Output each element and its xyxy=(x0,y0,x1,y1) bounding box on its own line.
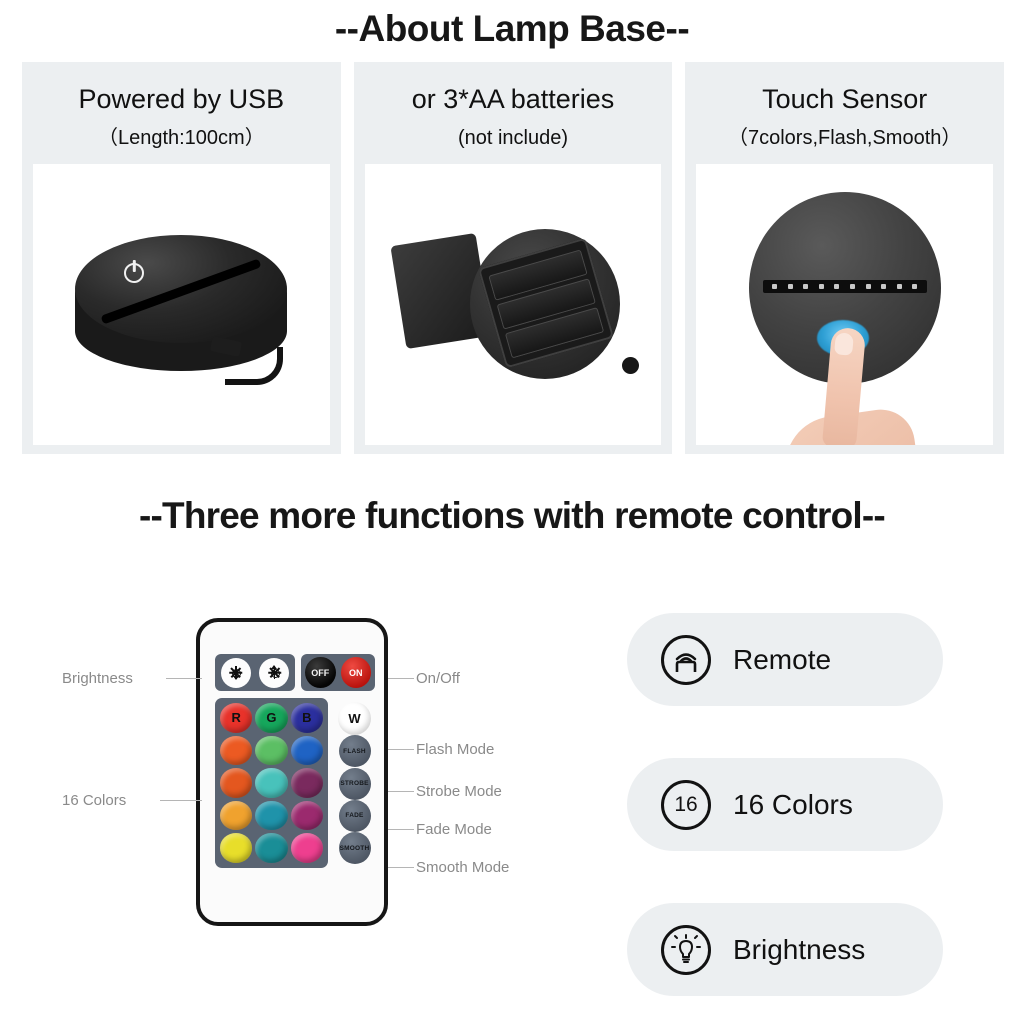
leader-line xyxy=(388,678,414,679)
infographic-page: --About Lamp Base-- Powered by USB （Leng… xyxy=(0,0,1024,1024)
panel-subtitle: （Length:100cm） xyxy=(28,127,335,150)
smooth-mode-button[interactable]: SMOOTH xyxy=(339,832,371,864)
lamp-base-usb-illustration xyxy=(75,235,287,385)
color-button[interactable] xyxy=(291,768,323,798)
color-button-label xyxy=(255,833,287,863)
panel-header: Touch Sensor （7colors,Flash,Smooth） xyxy=(685,62,1004,164)
mode-button-column: W FLASH STROBE FADE SMOOTH xyxy=(332,698,377,868)
brightness-up-button[interactable] xyxy=(259,658,289,688)
off-button[interactable]: OFF xyxy=(305,657,336,688)
rubber-foot xyxy=(622,357,639,374)
led-dot xyxy=(788,284,793,289)
color-button-label: R xyxy=(220,703,252,733)
color-button-label: G xyxy=(255,703,287,733)
leader-line xyxy=(388,749,414,750)
remote-body: OFF ON R G B xyxy=(196,618,388,926)
white-button[interactable]: W xyxy=(338,702,371,735)
color-button[interactable] xyxy=(220,801,252,831)
color-button-label xyxy=(220,736,252,766)
led-dot xyxy=(912,284,917,289)
led-dot xyxy=(897,284,902,289)
color-button[interactable] xyxy=(220,768,252,798)
color-button[interactable] xyxy=(255,768,287,798)
sun-dim-icon xyxy=(229,666,242,679)
sun-bright-icon xyxy=(268,666,281,679)
leader-line xyxy=(166,678,202,679)
color-button-label xyxy=(291,768,323,798)
power-symbol-icon xyxy=(124,263,144,283)
callout-smooth-mode: Smooth Mode xyxy=(416,859,509,876)
remote-icon xyxy=(661,635,711,685)
color-button-label xyxy=(291,801,323,831)
color-button[interactable] xyxy=(291,736,323,766)
led-dot xyxy=(834,284,839,289)
battery-compartment-illustration xyxy=(398,225,628,385)
panel-powered-by-usb: Powered by USB （Length:100cm） xyxy=(22,62,341,454)
color-button[interactable] xyxy=(220,833,252,863)
panel-aa-batteries: or 3*AA batteries (not include) xyxy=(354,62,673,454)
flash-mode-button[interactable]: FLASH xyxy=(339,735,371,767)
callout-flash-mode: Flash Mode xyxy=(416,741,494,758)
base-underside xyxy=(470,229,620,379)
arrow-up-icon xyxy=(271,665,277,669)
leader-line xyxy=(388,867,414,868)
pill-label: Brightness xyxy=(733,934,865,966)
panel-subtitle: （7colors,Flash,Smooth） xyxy=(691,127,998,150)
color-button-label xyxy=(255,768,287,798)
color-button-label xyxy=(291,833,323,863)
leader-line xyxy=(388,829,414,830)
callout-strobe-mode: Strobe Mode xyxy=(416,783,502,800)
remote-control-diagram: OFF ON R G B xyxy=(196,618,388,926)
fingernail xyxy=(834,332,854,355)
touch-base-illustration xyxy=(749,192,941,384)
color-button[interactable] xyxy=(255,736,287,766)
callout-16-colors: 16 Colors xyxy=(62,792,126,809)
color-button-label xyxy=(220,768,252,798)
color-button-label xyxy=(255,801,287,831)
power-button-group: OFF ON xyxy=(301,654,375,691)
led-dot xyxy=(866,284,871,289)
callout-fade-mode: Fade Mode xyxy=(416,821,492,838)
usb-base-photo xyxy=(33,164,330,445)
pill-label: 16 Colors xyxy=(733,789,853,821)
panel-title: Touch Sensor xyxy=(691,84,998,115)
sixteen-icon: 16 xyxy=(661,780,711,830)
strobe-mode-button[interactable]: STROBE xyxy=(339,768,371,800)
color-button-label xyxy=(255,736,287,766)
panel-header: Powered by USB （Length:100cm） xyxy=(22,62,341,164)
panel-title: or 3*AA batteries xyxy=(360,84,667,115)
led-dot xyxy=(803,284,808,289)
color-button[interactable] xyxy=(291,833,323,863)
color-button-label xyxy=(291,736,323,766)
leader-line xyxy=(388,791,414,792)
led-dot xyxy=(819,284,824,289)
on-button[interactable]: ON xyxy=(341,657,372,688)
remote-top-row: OFF ON xyxy=(215,654,375,691)
pill-remote: Remote xyxy=(627,613,943,706)
color-button[interactable] xyxy=(291,801,323,831)
color-button-label xyxy=(220,801,252,831)
color-button[interactable]: G xyxy=(255,703,287,733)
arrow-down-icon xyxy=(233,676,239,680)
color-button-label xyxy=(220,833,252,863)
color-button[interactable] xyxy=(255,833,287,863)
leader-line xyxy=(160,800,202,801)
led-dot xyxy=(850,284,855,289)
panel-title: Powered by USB xyxy=(28,84,335,115)
color-button[interactable] xyxy=(255,801,287,831)
feature-panel-group: Powered by USB （Length:100cm） or 3*AA ba… xyxy=(22,62,1004,454)
page-title: --About Lamp Base-- xyxy=(0,8,1024,50)
pill-label: Remote xyxy=(733,644,831,676)
touch-sensor-photo xyxy=(696,164,993,445)
panel-header: or 3*AA batteries (not include) xyxy=(354,62,673,164)
panel-subtitle: (not include) xyxy=(360,127,667,150)
led-strip xyxy=(763,280,927,293)
color-button[interactable] xyxy=(220,736,252,766)
color-button[interactable]: R xyxy=(220,703,252,733)
brightness-button-group xyxy=(215,654,295,691)
fade-mode-button[interactable]: FADE xyxy=(339,800,371,832)
pill-16-colors: 16 16 Colors xyxy=(627,758,943,851)
brightness-down-button[interactable] xyxy=(221,658,251,688)
brightness-icon xyxy=(661,925,711,975)
section-title: --Three more functions with remote contr… xyxy=(0,495,1024,537)
color-button-label: B xyxy=(291,703,323,733)
color-button-grid: R G B xyxy=(215,698,328,868)
feature-pill-group: Remote 16 16 Colors Brig xyxy=(627,613,943,1024)
sixteen-badge-text: 16 xyxy=(664,783,708,827)
callout-on-off: On/Off xyxy=(416,670,460,687)
pill-brightness: Brightness xyxy=(627,903,943,996)
callout-brightness: Brightness xyxy=(62,670,133,687)
led-dot xyxy=(772,284,777,289)
battery-base-photo xyxy=(365,164,662,445)
panel-touch-sensor: Touch Sensor （7colors,Flash,Smooth） xyxy=(685,62,1004,454)
color-button[interactable]: B xyxy=(291,703,323,733)
led-dot xyxy=(881,284,886,289)
battery-well xyxy=(478,237,614,368)
